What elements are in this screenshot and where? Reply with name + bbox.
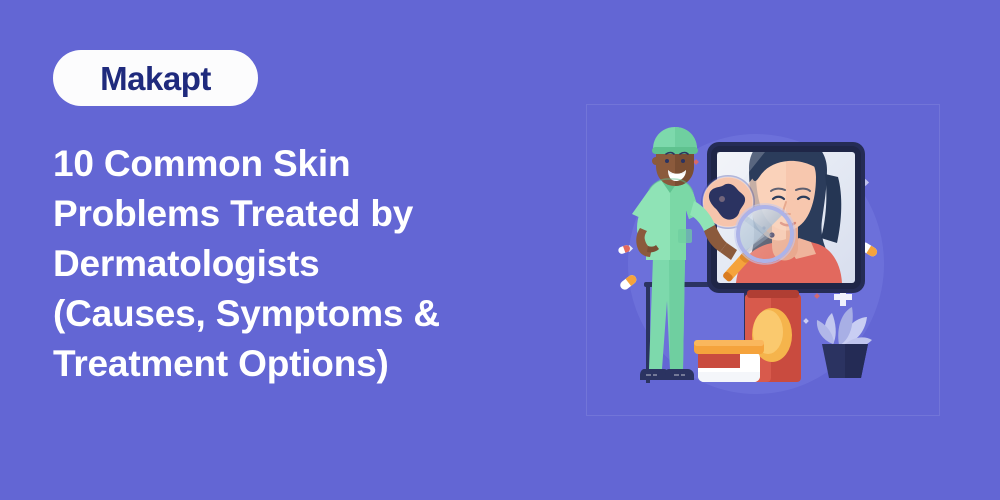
text-column: Makapt 10 Common Skin Problems Treated b… bbox=[53, 0, 553, 500]
page-title: 10 Common Skin Problems Treated by Derma… bbox=[53, 139, 553, 389]
illustration-panel bbox=[586, 104, 940, 416]
title-line-2: Problems Treated by bbox=[53, 189, 553, 239]
title-line-4: (Causes, Symptoms & bbox=[53, 289, 553, 339]
title-line-5: Treatment Options) bbox=[53, 339, 553, 389]
title-line-1: 10 Common Skin bbox=[53, 139, 553, 189]
logo-text: Makapt bbox=[100, 62, 211, 95]
logo-badge[interactable]: Makapt bbox=[53, 50, 258, 106]
title-line-3: Dermatologists bbox=[53, 239, 553, 289]
dermatology-illustration bbox=[586, 104, 940, 416]
blog-banner: Makapt 10 Common Skin Problems Treated b… bbox=[0, 0, 1000, 500]
ointment-jar bbox=[694, 340, 764, 382]
